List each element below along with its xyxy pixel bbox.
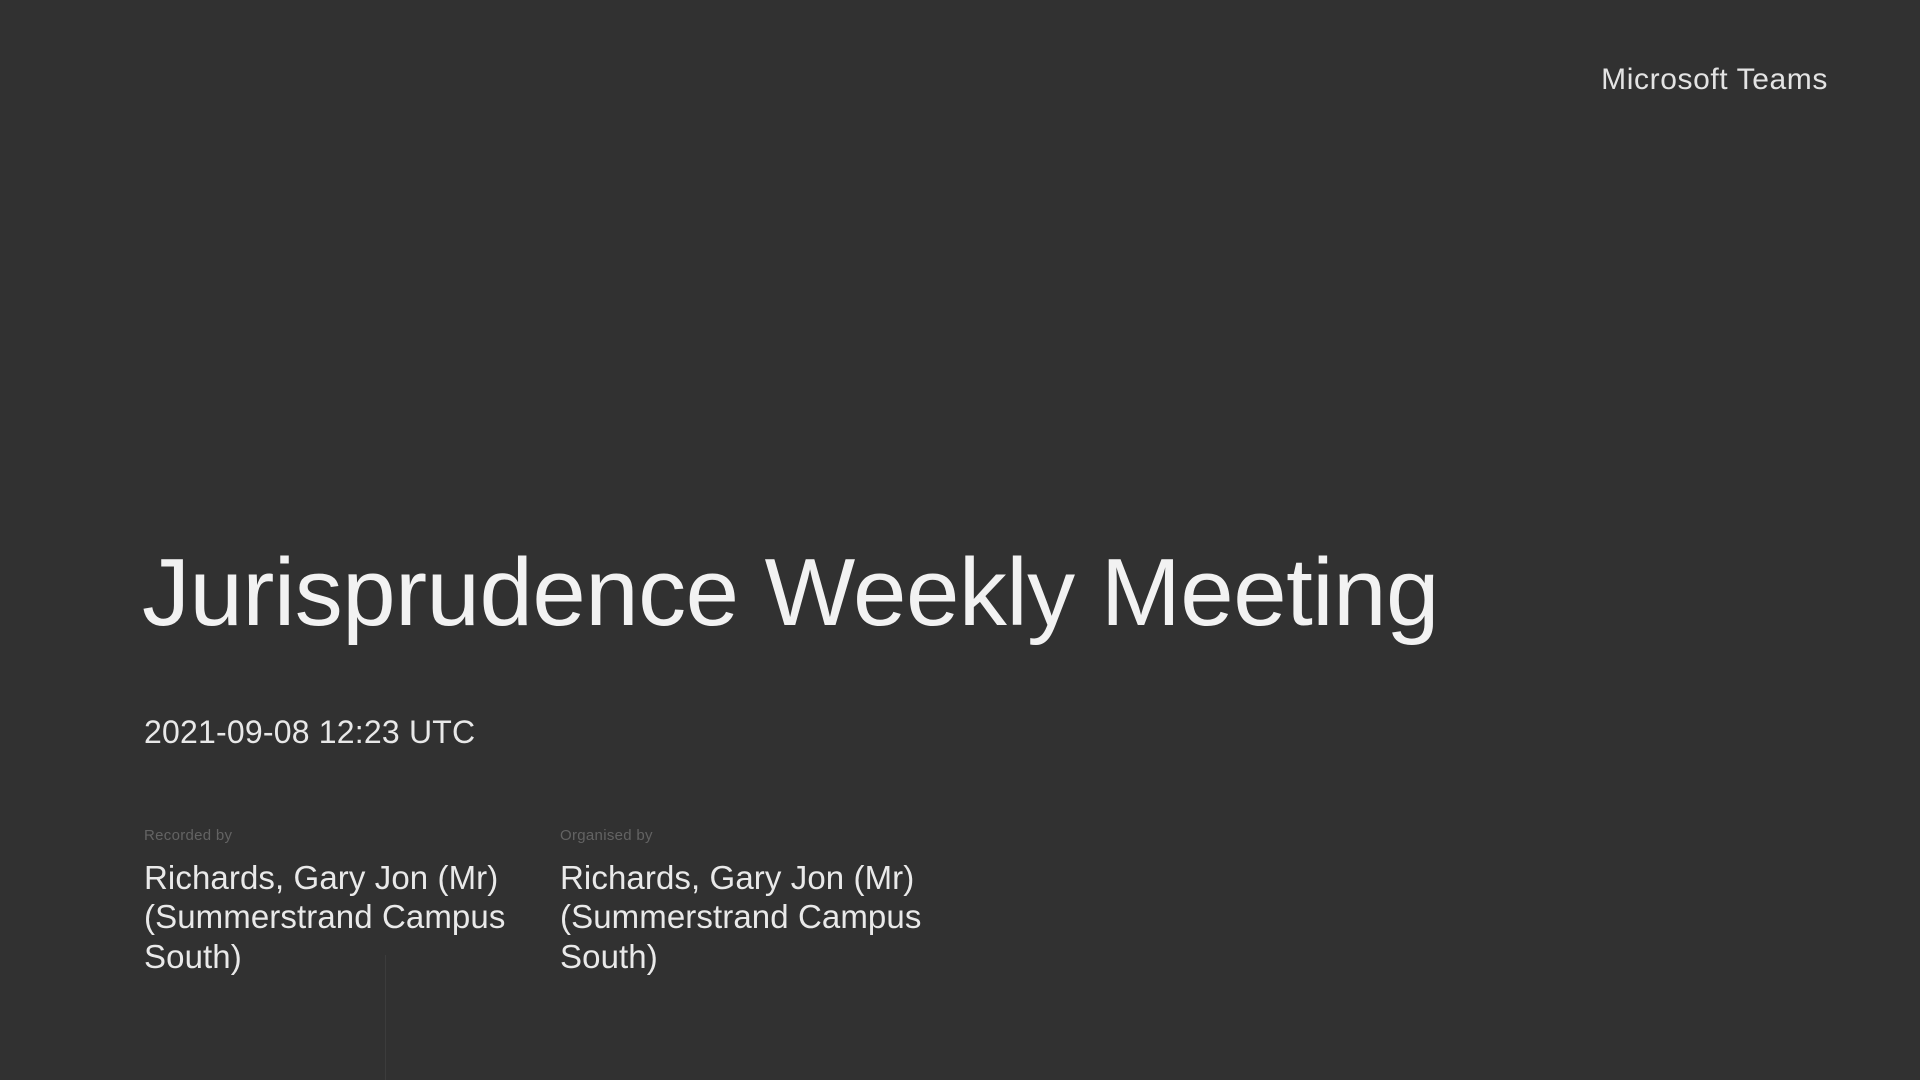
meeting-datetime: 2021-09-08 12:23 UTC <box>144 713 475 751</box>
teams-recording-title-card: Microsoft Teams Jurisprudence Weekly Mee… <box>0 0 1920 1080</box>
credit-organised-by: Organised by Richards, Gary Jon (Mr) (Su… <box>560 826 976 977</box>
credit-name-recorded-by: Richards, Gary Jon (Mr) (Summerstrand Ca… <box>144 858 524 978</box>
credit-recorded-by: Recorded by Richards, Gary Jon (Mr) (Sum… <box>144 826 560 977</box>
credit-label-organised-by: Organised by <box>560 826 942 846</box>
meeting-title: Jurisprudence Weekly Meeting <box>142 541 1439 645</box>
credit-label-recorded-by: Recorded by <box>144 826 526 846</box>
credit-name-organised-by: Richards, Gary Jon (Mr) (Summerstrand Ca… <box>560 858 940 978</box>
microsoft-teams-brand-label: Microsoft Teams <box>1601 62 1828 98</box>
credits-row: Recorded by Richards, Gary Jon (Mr) (Sum… <box>144 826 976 977</box>
